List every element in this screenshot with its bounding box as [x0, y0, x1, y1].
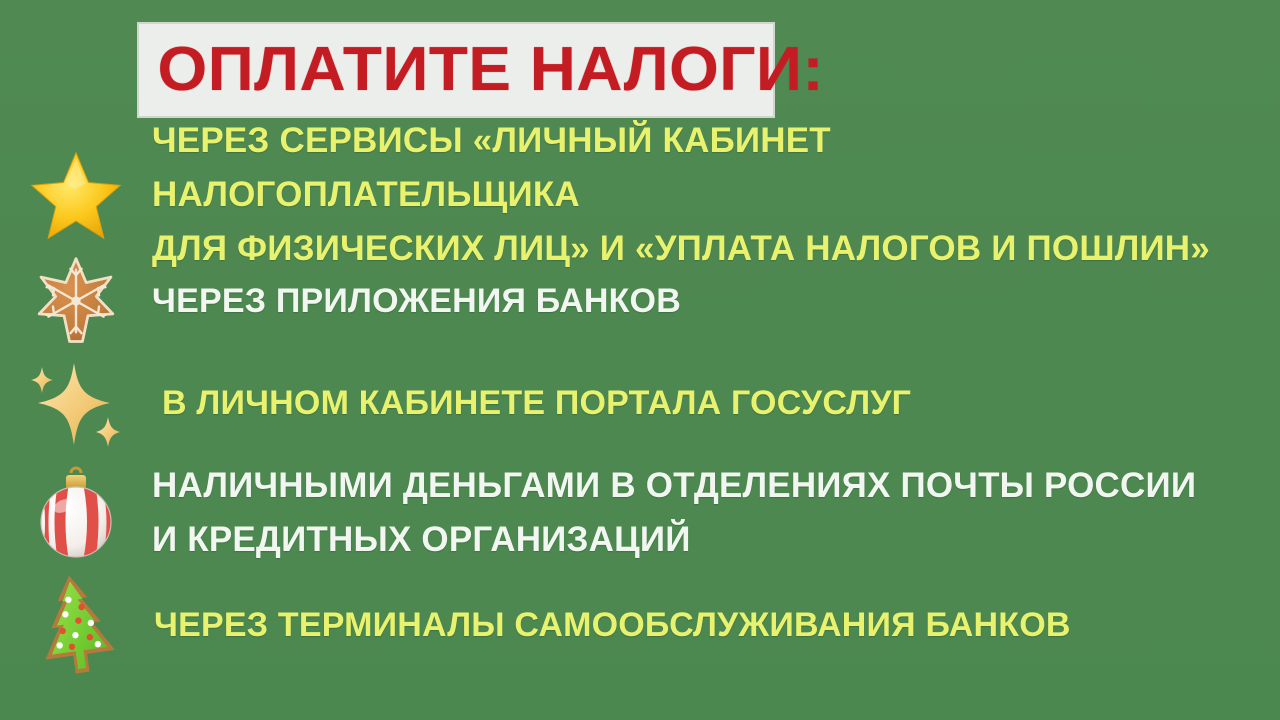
list-item: ЧЕРЕЗ ПРИЛОЖЕНИЯ БАНКОВ — [0, 254, 1280, 348]
list-item-text-wrap: ЧЕРЕЗ ТЕРМИНАЛЫ САМООБСЛУЖИВАНИЯ БАНКОВ — [152, 605, 1280, 645]
title-banner: ОПЛАТИТЕ НАЛОГИ: — [137, 22, 775, 118]
christmas-ornament-icon — [0, 463, 152, 563]
list-item-label: ЧЕРЕЗ ПРИЛОЖЕНИЯ БАНКОВ — [152, 281, 1260, 321]
sparkles-icon — [0, 353, 152, 453]
list-item: НАЛИЧНЫМИ ДЕНЬГАМИ В ОТДЕЛЕНИЯХ ПОЧТЫ РО… — [0, 458, 1280, 568]
list-item-label: ЧЕРЕЗ ТЕРМИНАЛЫ САМООБСЛУЖИВАНИЯ БАНКОВ — [154, 605, 1260, 645]
list-item-text-wrap: НАЛИЧНЫМИ ДЕНЬГАМИ В ОТДЕЛЕНИЯХ ПОЧТЫ РО… — [152, 459, 1280, 567]
gingerbread-snowflake-icon — [0, 255, 152, 347]
list-item-text-wrap: В ЛИЧНОМ КАБИНЕТЕ ПОРТАЛА ГОСУСЛУГ — [152, 383, 1280, 423]
list-item: ЧЕРЕЗ СЕРВИСЫ «ЛИЧНЫЙ КАБИНЕТ НАЛОГОПЛАТ… — [0, 140, 1280, 250]
list-item-text-wrap: ЧЕРЕЗ СЕРВИСЫ «ЛИЧНЫЙ КАБИНЕТ НАЛОГОПЛАТ… — [152, 114, 1280, 276]
list-item: В ЛИЧНОМ КАБИНЕТЕ ПОРТАЛА ГОСУСЛУГ — [0, 350, 1280, 456]
list-item: ЧЕРЕЗ ТЕРМИНАЛЫ САМООБСЛУЖИВАНИЯ БАНКОВ — [0, 570, 1280, 680]
page-title: ОПЛАТИТЕ НАЛОГИ: — [139, 39, 824, 101]
list-item-label: ЧЕРЕЗ СЕРВИСЫ «ЛИЧНЫЙ КАБИНЕТ НАЛОГОПЛАТ… — [152, 114, 1260, 276]
gingerbread-tree-icon — [0, 573, 152, 677]
poster-canvas: ОПЛАТИТЕ НАЛОГИ: — [0, 0, 1280, 720]
star-icon — [0, 147, 152, 243]
list-item-label: НАЛИЧНЫМИ ДЕНЬГАМИ В ОТДЕЛЕНИЯХ ПОЧТЫ РО… — [152, 459, 1260, 567]
list-item-text-wrap: ЧЕРЕЗ ПРИЛОЖЕНИЯ БАНКОВ — [152, 281, 1280, 321]
list-item-label: В ЛИЧНОМ КАБИНЕТЕ ПОРТАЛА ГОСУСЛУГ — [162, 383, 1260, 423]
